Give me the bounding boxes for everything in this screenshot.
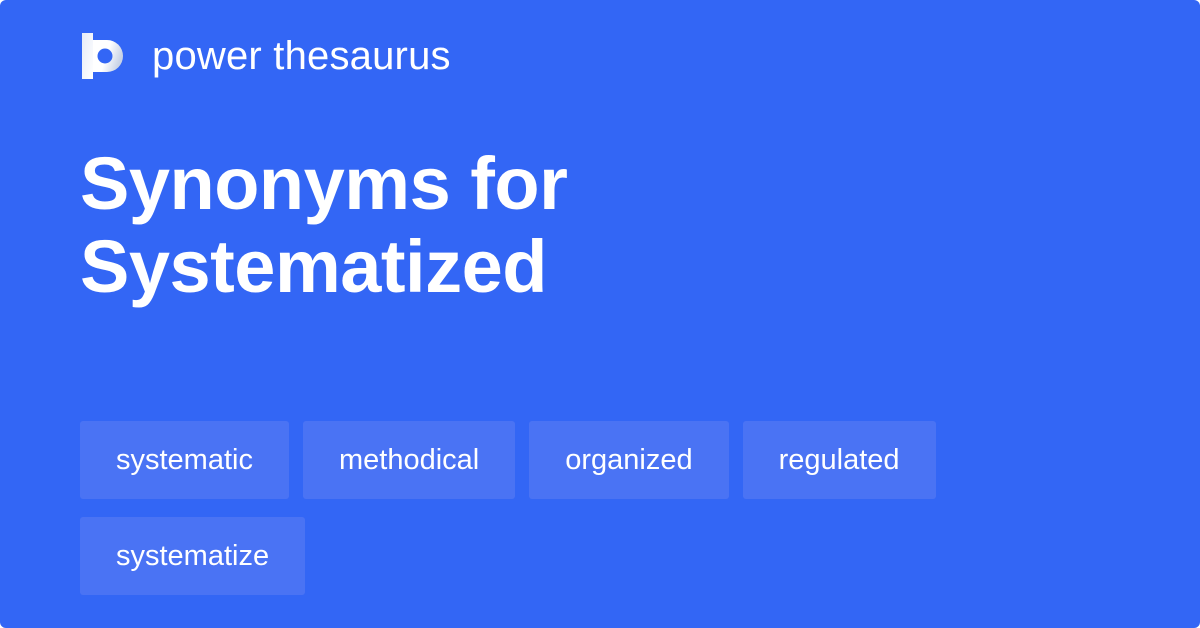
brand-header[interactable]: power thesaurus xyxy=(80,28,451,84)
synonym-chip[interactable]: systematic xyxy=(80,421,289,499)
share-card: power thesaurus Synonyms for Systematize… xyxy=(0,0,1200,628)
synonym-chip[interactable]: systematize xyxy=(80,517,305,595)
power-thesaurus-b-logo-icon xyxy=(80,31,130,81)
synonym-chip[interactable]: regulated xyxy=(743,421,936,499)
page-title-line-2: Systematized xyxy=(80,226,980,309)
brand-name: power thesaurus xyxy=(152,36,451,76)
synonym-chip[interactable]: organized xyxy=(529,421,728,499)
synonym-chip[interactable]: methodical xyxy=(303,421,515,499)
page-title: Synonyms for Systematized xyxy=(80,143,980,309)
synonym-list: systematic methodical organized regulate… xyxy=(80,421,1128,595)
page-title-line-1: Synonyms for xyxy=(80,143,980,226)
